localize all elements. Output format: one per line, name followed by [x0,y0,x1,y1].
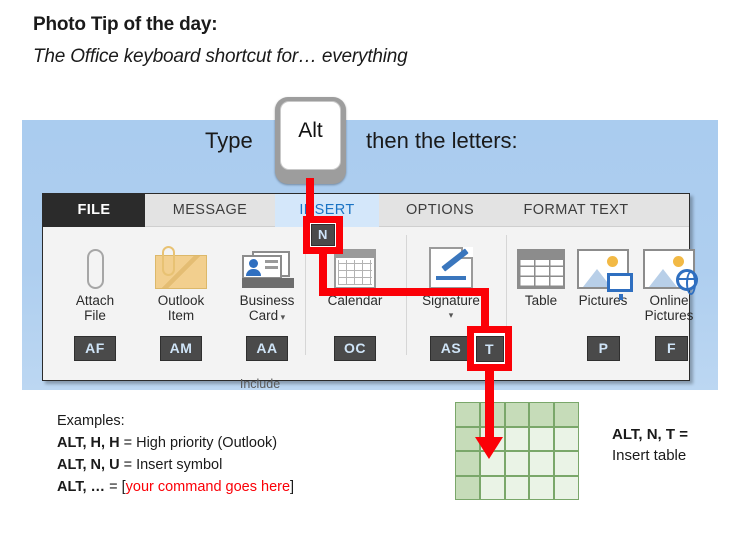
example-row: ALT, N, U = Insert symbol [57,454,294,476]
example-desc-placeholder: your command goes here [126,479,290,495]
example-keys: ALT, … [57,479,105,495]
table-cell [554,427,579,452]
envelope-icon [133,233,229,289]
result-caption: ALT, N, T = Insert table [612,424,688,466]
keytip-business-card[interactable]: AA [246,336,288,361]
command-label: Online [649,293,688,308]
result-arrow-head [475,437,503,459]
table-cell [505,451,530,476]
command-business-card[interactable]: Business Card ▾ [219,233,315,325]
example-desc: Insert symbol [136,457,222,473]
page-title: Photo Tip of the day: [33,14,217,36]
keytip-calendar[interactable]: OC [334,336,376,361]
alt-key-label: Alt [275,119,346,143]
example-row: ALT, … = [your command goes here] [57,476,294,498]
table-cell [554,402,579,427]
signature-icon [403,233,499,289]
table-cell [554,451,579,476]
banner-text-after: then the letters: [366,128,518,154]
table-cell [529,476,554,501]
table-cell [455,402,480,427]
chevron-down-icon[interactable]: ▾ [278,312,285,322]
ribbon-group-label: Include [215,377,305,391]
table-cell [480,476,505,501]
highlight-box-table-keytip: T [467,326,512,371]
table-cell [455,476,480,501]
business-card-icon [219,233,315,289]
keytip-outlook-item[interactable]: AM [160,336,202,361]
online-pictures-icon [621,233,717,289]
result-action: Insert table [612,447,686,464]
keytip-pictures[interactable]: P [587,336,620,361]
examples-heading: Examples: [57,410,294,432]
example-eq: = [120,435,137,451]
table-cell [505,427,530,452]
paperclip-icon [47,233,143,289]
tab-message[interactable]: MESSAGE [145,194,275,227]
example-eq: = [120,457,137,473]
example-row: ALT, H, H = High priority (Outlook) [57,432,294,454]
keytip-attach-file[interactable]: AF [74,336,116,361]
highlight-path-horizontal [319,288,489,296]
command-label-2: File [47,308,143,323]
outlook-ribbon: FILE MESSAGE INSERT OPTIONS FORMAT TEXT … [42,193,690,381]
command-label-2: Card [249,308,278,323]
table-cell [529,402,554,427]
example-keys: ALT, H, H [57,435,120,451]
tab-file[interactable]: FILE [43,194,145,227]
example-eq: = [105,479,122,495]
command-label: Table [525,293,557,308]
alt-key-graphic: Alt [275,97,346,184]
example-desc: High priority (Outlook) [136,435,277,451]
command-online-pictures[interactable]: Online Pictures [621,233,717,323]
table-cell [529,427,554,452]
highlight-stem-alt [306,178,314,220]
keytip-online-pictures[interactable]: F [655,336,688,361]
keytip-signature[interactable]: AS [430,336,472,361]
command-label: Business [240,293,295,308]
example-desc-tail: ] [290,479,294,495]
command-outlook-item[interactable]: Outlook Item [133,233,229,323]
command-label: Outlook [158,293,205,308]
command-label: Attach [76,293,114,308]
command-label-2: Pictures [621,308,717,323]
table-cell [529,451,554,476]
result-table-graphic [455,402,579,500]
table-cell [505,476,530,501]
tab-format-text[interactable]: FORMAT TEXT [501,194,651,227]
examples-block: Examples: ALT, H, H = High priority (Out… [57,410,294,498]
banner-text-before: Type [205,128,253,154]
tab-options[interactable]: OPTIONS [379,194,501,227]
result-shortcut: ALT, N, T = [612,426,688,443]
table-cell [554,476,579,501]
result-arrow-shaft [485,369,494,441]
example-keys: ALT, N, U [57,457,120,473]
ribbon-tabstrip: FILE MESSAGE INSERT OPTIONS FORMAT TEXT [43,194,689,227]
table-cell [505,402,530,427]
highlight-box-insert-keytip: N [303,216,343,254]
keytip-insert[interactable]: N [311,224,335,246]
command-label-2: Item [133,308,229,323]
page-subtitle: The Office keyboard shortcut for… everyt… [33,46,408,68]
ribbon-body: Attach File Outlook Item [43,227,689,380]
keytip-table[interactable]: T [476,336,504,362]
command-attach-file[interactable]: Attach File [47,233,143,323]
